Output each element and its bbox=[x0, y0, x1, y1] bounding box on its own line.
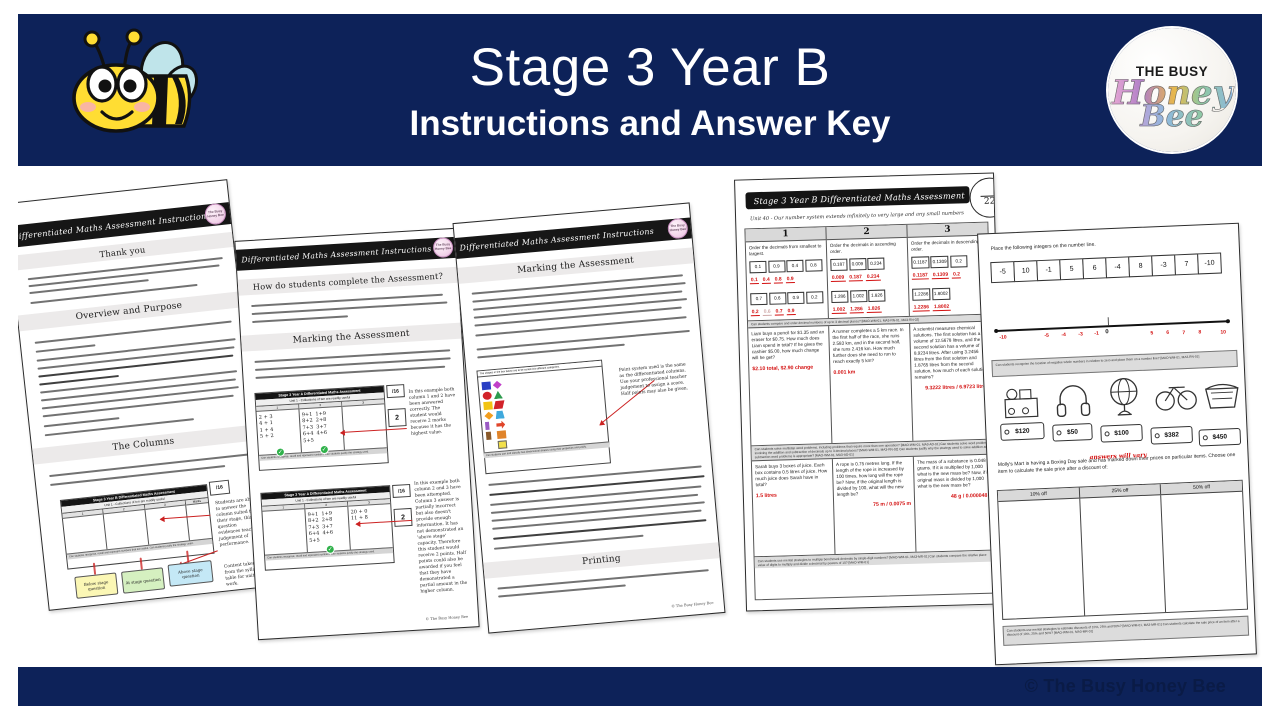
price-tag: $120 bbox=[1000, 422, 1045, 441]
number-line-answer: -1 bbox=[1094, 331, 1099, 337]
document-instructions-2[interactable]: How do students complete the Assessment?… bbox=[234, 228, 479, 640]
page-root: Stage 3 Year B Instructions and Answer K… bbox=[0, 0, 1280, 720]
number-line-answer: 10 bbox=[1220, 329, 1226, 335]
section-heading-the-columns: The Columns bbox=[32, 425, 254, 465]
section-heading-how-complete: How do students complete the Assessment? bbox=[238, 267, 459, 296]
callout-at-stage: At stage question bbox=[121, 567, 165, 593]
number-line-axis bbox=[996, 320, 1228, 331]
number-line-answer: 6 bbox=[1166, 330, 1169, 336]
number-line-zero-tick bbox=[1108, 317, 1109, 325]
integer-box: 8 bbox=[1128, 255, 1153, 277]
example-assessment-table: Stage 3 Year B Differentiated Maths Asse… bbox=[60, 484, 215, 570]
number-line-answer: 7 bbox=[1182, 330, 1185, 336]
integer-box: 10 bbox=[1013, 260, 1038, 282]
price-tag: $100 bbox=[1100, 424, 1143, 443]
table-row: Liam buys a pencil for $1.35 and an eras… bbox=[748, 322, 993, 447]
score-circle: 22 bbox=[969, 177, 1006, 218]
example-score-2: /16 bbox=[392, 484, 411, 498]
example-note-2: In this example both column 2 and 3 have… bbox=[414, 479, 469, 596]
answer-key-table: 1 2 3 Order the decimals from smallest t… bbox=[744, 222, 998, 601]
table-row: Order the decimals from smallest to larg… bbox=[746, 236, 990, 321]
price-tag: $50 bbox=[1052, 423, 1093, 442]
integer-box: -3 bbox=[1151, 254, 1176, 276]
number-line-zero-label: 0 bbox=[1105, 329, 1109, 335]
number-line-answer: -3 bbox=[1078, 331, 1083, 337]
document-copyright-3: © The Busy Honey Bee bbox=[671, 601, 714, 609]
bee-mascot-icon bbox=[58, 28, 198, 153]
number-line-answer: 8 bbox=[1198, 329, 1201, 335]
callout-above-stage: Above stage question bbox=[168, 560, 214, 587]
criteria-strip-number-line: Can students recognise the location of n… bbox=[991, 350, 1237, 377]
discount-answer-cell[interactable] bbox=[1162, 492, 1248, 612]
example-table-1: Stage 3 Year A Differentiated Maths Asse… bbox=[254, 385, 388, 471]
example-score-box: /16 bbox=[209, 480, 230, 496]
headphones-icon bbox=[1054, 380, 1092, 422]
example-note-1: In this example both column 1 and 2 have… bbox=[408, 387, 459, 438]
answer-cell: Order the decimals in ascending order. 0… bbox=[827, 238, 910, 318]
brand-logo: THE BUSY Honey Bee bbox=[1108, 28, 1236, 152]
number-line-prompt: Place the following integers on the numb… bbox=[991, 242, 1096, 252]
example-table-2: Stage 3 Year A Differentiated Maths Asse… bbox=[260, 485, 394, 571]
page-subtitle: Instructions and Answer Key bbox=[409, 102, 890, 146]
side-note-point-system: Point system used is the same as the dif… bbox=[619, 362, 693, 398]
answer-key-unit-label: Unit 40 - Our number system extends infi… bbox=[750, 210, 964, 222]
table-row: Sarah buys 3 boxes of juice. Each box co… bbox=[752, 455, 997, 558]
criteria-strip-discounts: Can students use mental strategies to es… bbox=[1003, 616, 1250, 646]
documents-canvas: Thank you Overview and Purpose The Colum… bbox=[18, 166, 1262, 667]
footer-copyright: © The Busy Honey Bee bbox=[1025, 676, 1226, 697]
document-copyright-2: © The Busy Honey Bee bbox=[425, 615, 468, 622]
discount-answer-cell[interactable] bbox=[1080, 495, 1166, 615]
globe-icon bbox=[1104, 376, 1144, 423]
section-heading-printing: Printing bbox=[483, 542, 719, 579]
answer-cell: The mass of a substance is 0.048 grams. … bbox=[914, 455, 997, 552]
document-answer-key[interactable]: Stage 3 Year B Differentiated Maths Asse… bbox=[734, 172, 1006, 611]
logo-line-bee: Bee bbox=[1140, 104, 1204, 130]
price-tag: $382 bbox=[1150, 426, 1193, 445]
integer-box: -1 bbox=[1036, 259, 1061, 281]
document-number-line[interactable]: Place the following integers on the numb… bbox=[977, 223, 1257, 666]
bicycle-icon bbox=[1154, 378, 1198, 419]
number-line-answer: 5 bbox=[1150, 330, 1153, 336]
discount-table: 10% off 25% off 50% off bbox=[997, 480, 1248, 620]
answer-key-title-bar: Stage 3 Year B Differentiated Maths Asse… bbox=[745, 186, 969, 209]
example-marks-2: 2 bbox=[394, 508, 413, 527]
example-marks-1: 2 bbox=[388, 408, 407, 427]
integer-box: -5 bbox=[990, 261, 1015, 283]
price-tag: $450 bbox=[1198, 428, 1241, 447]
page-title: Stage 3 Year B bbox=[470, 38, 831, 98]
answer-cell: A rope is 0.75 metres long. If the lengt… bbox=[833, 457, 917, 554]
number-line-answer: -4 bbox=[1061, 332, 1066, 338]
callout-below-stage: Below stage question bbox=[74, 572, 118, 598]
number-line-answer: -5 bbox=[1044, 333, 1049, 339]
footer-banner: © The Busy Honey Bee bbox=[18, 667, 1262, 706]
example-score-1: /16 bbox=[386, 384, 405, 398]
discount-answer-cell[interactable] bbox=[998, 499, 1084, 619]
integer-boxes: -5 10 -1 5 6 -4 8 -3 7 -10 bbox=[991, 252, 1222, 283]
answer-cell: A runner completes a 5 km race. In the f… bbox=[829, 324, 913, 443]
integer-box: 7 bbox=[1174, 253, 1199, 275]
toy-box-icon bbox=[1000, 384, 1042, 425]
answer-cell: Order the decimals from smallest to larg… bbox=[746, 240, 829, 320]
section-heading-overview: Overview and Purpose bbox=[18, 292, 240, 332]
integer-box: -4 bbox=[1105, 256, 1130, 278]
section-heading-marking-1: Marking the Assessment bbox=[241, 323, 462, 352]
number-line-answer: -10 bbox=[999, 335, 1006, 341]
answer-cell: Liam buys a pencil for $1.35 and an eras… bbox=[748, 326, 832, 445]
integer-box: 6 bbox=[1082, 257, 1107, 279]
basket-icon bbox=[1202, 380, 1241, 417]
document-instructions-1[interactable]: Thank you Overview and Purpose The Colum… bbox=[18, 179, 271, 611]
answer-cell: Sarah buys 3 boxes of juice. Each box co… bbox=[752, 459, 836, 556]
document-banner-2: Differentiated Maths Assessment Instruct… bbox=[234, 237, 460, 271]
integer-box: -10 bbox=[1197, 252, 1222, 274]
integer-box: 5 bbox=[1059, 258, 1084, 280]
header-banner: Stage 3 Year B Instructions and Answer K… bbox=[18, 14, 1262, 166]
document-instructions-3[interactable]: Marking the Assessment The shapes in the… bbox=[452, 202, 725, 633]
